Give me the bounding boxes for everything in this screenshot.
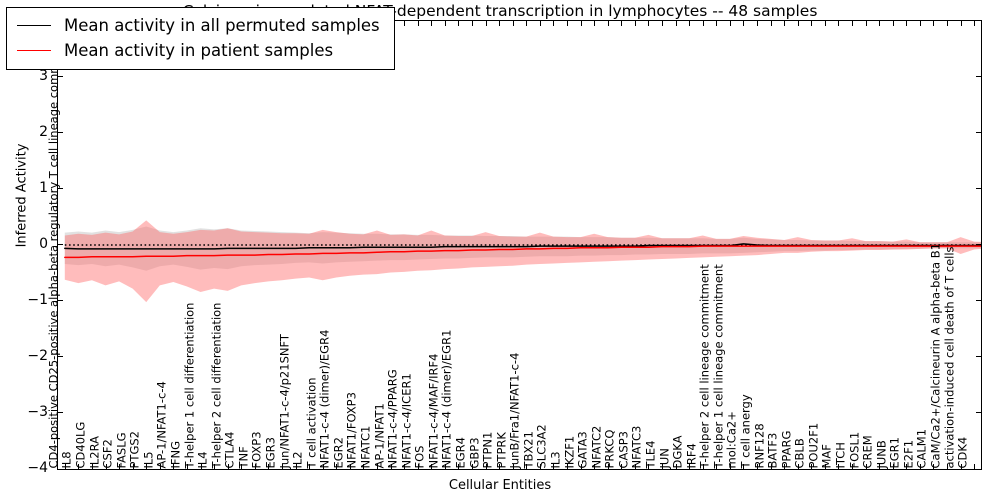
x-tick-mark — [119, 464, 120, 469]
x-tick-mark — [173, 464, 174, 469]
y-tick-label: 3 — [39, 68, 48, 84]
chart-root: Calcineurin-regulated NFAT-dependent tra… — [0, 0, 1000, 500]
y-tick-mark — [57, 132, 63, 133]
x-tick-mark — [472, 464, 473, 469]
x-tick-mark-top — [743, 21, 744, 26]
x-tick-mark — [730, 464, 731, 469]
legend-swatch-red-line — [17, 50, 51, 51]
x-tick-mark-top — [581, 21, 582, 26]
x-tick-mark — [662, 464, 663, 469]
x-tick-mark — [187, 464, 188, 469]
x-tick-mark — [458, 464, 459, 469]
x-tick-mark — [540, 464, 541, 469]
x-tick-mark-top — [730, 21, 731, 26]
x-tick-mark-top — [472, 21, 473, 26]
x-tick-mark — [391, 464, 392, 469]
x-tick-mark-top — [811, 21, 812, 26]
x-tick-mark-top — [648, 21, 649, 26]
x-tick-mark — [282, 464, 283, 469]
x-tick-mark — [377, 464, 378, 469]
x-tick-mark — [838, 464, 839, 469]
x-tick-mark — [65, 464, 66, 469]
x-tick-mark — [866, 464, 867, 469]
x-tick-mark-top — [852, 21, 853, 26]
x-tick-mark — [553, 464, 554, 469]
x-tick-mark — [852, 464, 853, 469]
x-tick-mark — [703, 464, 704, 469]
x-tick-mark-top — [418, 21, 419, 26]
y-tick-label: −3 — [27, 404, 48, 420]
legend-item-patient: Mean activity in patient samples — [17, 38, 380, 63]
x-tick-mark — [825, 464, 826, 469]
x-tick-mark-top — [716, 21, 717, 26]
x-tick-mark — [608, 464, 609, 469]
x-tick-mark — [309, 464, 310, 469]
x-tick-mark — [513, 464, 514, 469]
x-tick-mark — [431, 464, 432, 469]
y-tick-label: 2 — [39, 124, 48, 140]
x-tick-mark-top — [771, 21, 772, 26]
x-tick-mark — [581, 464, 582, 469]
x-tick-mark-top — [933, 21, 934, 26]
x-tick-mark — [757, 464, 758, 469]
x-tick-mark — [635, 464, 636, 469]
y-tick-mark — [976, 132, 982, 133]
x-tick-mark — [241, 464, 242, 469]
legend-label-permuted: Mean activity in all permuted samples — [64, 16, 380, 35]
x-tick-mark-top — [635, 21, 636, 26]
x-tick-mark — [893, 464, 894, 469]
x-tick-mark — [404, 464, 405, 469]
x-axis-label: Cellular Entities — [0, 478, 1000, 493]
x-tick-mark — [78, 464, 79, 469]
x-tick-mark-top — [906, 21, 907, 26]
x-tick-mark-top — [513, 21, 514, 26]
y-tick-label: 0 — [39, 236, 48, 252]
legend-label-patient: Mean activity in patient samples — [64, 41, 333, 60]
x-tick-mark-top — [594, 21, 595, 26]
x-tick-mark-top — [974, 21, 975, 26]
y-tick-mark — [976, 76, 982, 77]
x-tick-mark — [743, 464, 744, 469]
x-tick-mark-top — [947, 21, 948, 26]
x-tick-mark — [92, 464, 93, 469]
x-tick-mark — [336, 464, 337, 469]
x-tick-mark — [201, 464, 202, 469]
x-tick-mark-top — [703, 21, 704, 26]
x-tick-mark — [798, 464, 799, 469]
x-tick-mark — [689, 464, 690, 469]
x-tick-mark — [526, 464, 527, 469]
x-tick-mark — [771, 464, 772, 469]
x-tick-mark — [106, 464, 107, 469]
x-tick-mark — [228, 464, 229, 469]
x-tick-mark-top — [553, 21, 554, 26]
y-tick-mark — [57, 188, 63, 189]
band-patient-spread — [65, 220, 981, 302]
x-tick-mark — [268, 464, 269, 469]
x-tick-mark — [621, 464, 622, 469]
x-tick-mark — [499, 464, 500, 469]
x-tick-mark-top — [920, 21, 921, 26]
y-tick-label: −2 — [27, 348, 48, 364]
chart-legend: Mean activity in all permuted samples Me… — [6, 7, 395, 70]
x-tick-mark-top — [608, 21, 609, 26]
x-tick-mark-top — [838, 21, 839, 26]
legend-swatch-black-line — [17, 25, 51, 26]
x-tick-mark — [974, 464, 975, 469]
x-tick-mark — [648, 464, 649, 469]
x-tick-mark — [214, 464, 215, 469]
x-tick-mark-top — [486, 21, 487, 26]
x-tick-mark — [160, 464, 161, 469]
x-tick-mark — [418, 464, 419, 469]
x-tick-mark — [961, 464, 962, 469]
x-tick-mark-top — [662, 21, 663, 26]
plot-area — [57, 20, 982, 470]
y-tick-mark — [57, 244, 63, 245]
x-tick-mark — [363, 464, 364, 469]
y-tick-mark — [976, 188, 982, 189]
x-tick-mark — [486, 464, 487, 469]
x-tick-mark — [567, 464, 568, 469]
x-tick-mark-top — [784, 21, 785, 26]
x-tick-mark-top — [689, 21, 690, 26]
x-tick-mark-top — [879, 21, 880, 26]
y-tick-mark — [57, 76, 63, 77]
x-tick-mark — [784, 464, 785, 469]
y-tick-label: 1 — [39, 180, 48, 196]
x-tick-mark-top — [621, 21, 622, 26]
x-tick-mark — [933, 464, 934, 469]
x-tick-mark — [296, 464, 297, 469]
y-tick-mark — [57, 300, 63, 301]
x-tick-mark — [323, 464, 324, 469]
x-tick-mark-top — [458, 21, 459, 26]
x-tick-mark-top — [961, 21, 962, 26]
x-tick-mark-top — [431, 21, 432, 26]
x-tick-mark — [445, 464, 446, 469]
x-tick-mark — [716, 464, 717, 469]
x-tick-mark — [947, 464, 948, 469]
x-tick-mark — [350, 464, 351, 469]
x-tick-mark — [146, 464, 147, 469]
y-tick-mark — [976, 300, 982, 301]
x-tick-mark-top — [798, 21, 799, 26]
y-axis-label: Inferred Activity — [15, 86, 30, 306]
x-tick-mark-top — [757, 21, 758, 26]
x-tick-mark — [255, 464, 256, 469]
x-tick-mark-top — [825, 21, 826, 26]
y-tick-mark — [57, 356, 63, 357]
x-tick-mark-top — [540, 21, 541, 26]
x-tick-mark-top — [499, 21, 500, 26]
y-tick-mark — [57, 412, 63, 413]
x-tick-mark-top — [567, 21, 568, 26]
x-tick-mark-top — [404, 21, 405, 26]
x-tick-mark — [906, 464, 907, 469]
x-tick-mark-top — [676, 21, 677, 26]
x-tick-mark — [594, 464, 595, 469]
x-tick-mark — [133, 464, 134, 469]
x-tick-mark — [676, 464, 677, 469]
x-tick-mark — [879, 464, 880, 469]
x-tick-mark-top — [445, 21, 446, 26]
legend-item-permuted: Mean activity in all permuted samples — [17, 13, 380, 38]
y-tick-mark — [976, 356, 982, 357]
x-tick-mark-top — [866, 21, 867, 26]
x-tick-mark-top — [893, 21, 894, 26]
x-tick-mark-top — [526, 21, 527, 26]
y-tick-label: −1 — [27, 292, 48, 308]
x-tick-mark — [920, 464, 921, 469]
y-tick-label: −4 — [27, 460, 48, 476]
y-tick-mark — [976, 412, 982, 413]
y-tick-mark — [976, 244, 982, 245]
x-tick-mark — [811, 464, 812, 469]
plot-canvas — [58, 21, 981, 469]
